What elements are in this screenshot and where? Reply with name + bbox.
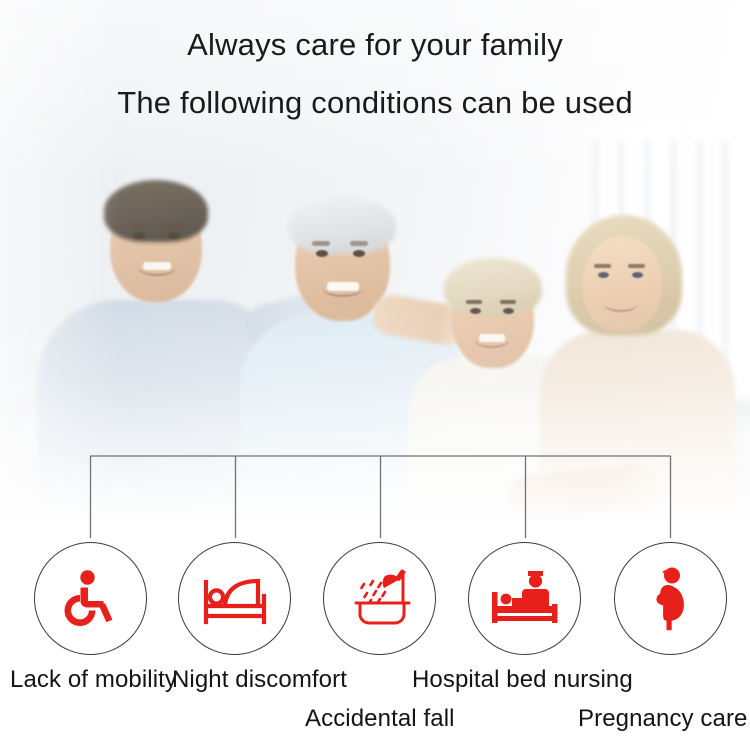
- condition-label-accidental-fall: Accidental fall: [305, 705, 455, 733]
- condition-icon-pregnancy-care[interactable]: [614, 542, 727, 655]
- shower-bathtub-icon: [347, 566, 413, 632]
- promo-image-root: Always care for your family The followin…: [0, 0, 750, 750]
- pregnant-woman-icon: [646, 566, 696, 632]
- condition-icon-accidental-fall[interactable]: [323, 542, 436, 655]
- person-in-bed-icon: [201, 570, 269, 628]
- condition-icon-night-discomfort[interactable]: [178, 542, 291, 655]
- condition-label-hospital-bed-nursing: Hospital bed nursing: [412, 666, 633, 694]
- condition-label-pregnancy-care: Pregnancy care: [578, 705, 748, 733]
- page-title-primary: Always care for your family: [0, 27, 750, 63]
- nurse-hospital-bed-icon: [490, 568, 560, 630]
- wheelchair-icon: [59, 567, 123, 631]
- condition-label-lack-of-mobility: Lack of mobility: [10, 666, 177, 694]
- page-title-secondary: The following conditions can be used: [0, 85, 750, 121]
- condition-icon-lack-of-mobility[interactable]: [34, 542, 147, 655]
- condition-icon-hospital-bed-nursing[interactable]: [468, 542, 581, 655]
- condition-label-night-discomfort: Night discomfort: [172, 666, 347, 694]
